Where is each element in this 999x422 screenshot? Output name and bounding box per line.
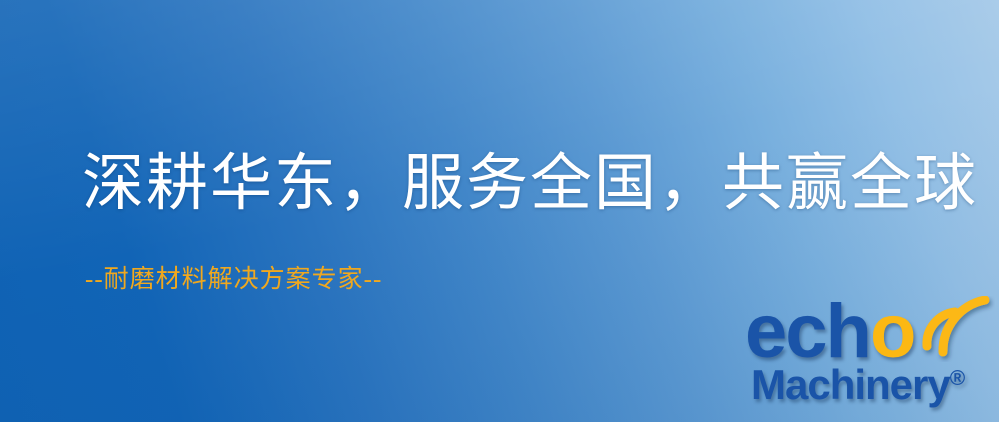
echo-machinery-logo: echo Machinery® — [745, 298, 997, 420]
logo-subtext-machinery: Machinery® — [751, 364, 965, 406]
banner-headline: 深耕华东，服务全国，共赢全球 — [82, 152, 978, 218]
signal-arcs-icon — [921, 296, 995, 362]
promotional-banner: 深耕华东，服务全国，共赢全球 --耐磨材料解决方案专家-- echo Machi… — [0, 0, 999, 422]
logo-wordmark-echo: echo — [745, 294, 914, 370]
logo-subtext-label: Machinery — [751, 361, 950, 408]
banner-subtitle: --耐磨材料解决方案专家-- — [85, 266, 382, 294]
registered-trademark-icon: ® — [950, 367, 965, 390]
